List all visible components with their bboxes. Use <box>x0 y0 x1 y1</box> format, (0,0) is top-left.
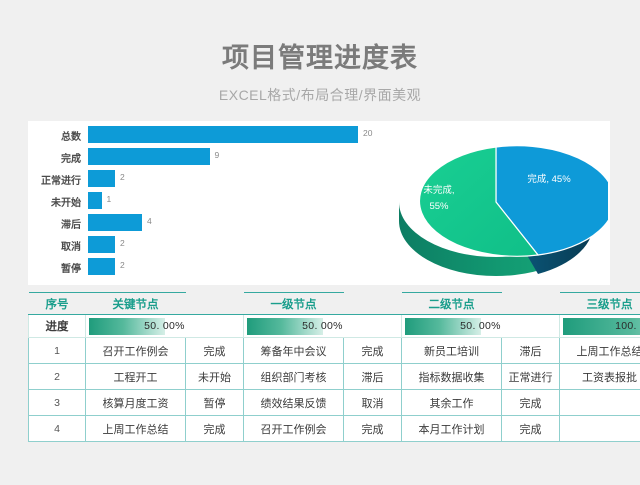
table-cell[interactable]: 指标数据收集 <box>402 364 502 390</box>
table-row: 3核算月度工资暂停绩效结果反馈取消其余工作完成 <box>29 390 640 416</box>
databar: 50. 00% <box>405 318 556 335</box>
table-cell[interactable]: 新员工培训 <box>402 338 502 364</box>
bar-category-label: 总数 <box>28 128 88 143</box>
pie-label-complete: 完成, 45% <box>527 173 571 185</box>
table-header-spacer <box>186 293 244 315</box>
table-cell[interactable] <box>560 416 640 442</box>
table-cell[interactable]: 暂停 <box>186 390 244 416</box>
bar-row: 完成9 <box>28 147 358 167</box>
table-header-spacer <box>502 293 560 315</box>
bar-track: 4 <box>88 213 358 233</box>
bar-category-label: 正常进行 <box>28 172 88 187</box>
bar-track: 20 <box>88 125 358 145</box>
bar-value-label: 1 <box>107 194 112 204</box>
bar-value-label: 9 <box>215 150 220 160</box>
table-header-cell[interactable]: 二级节点 <box>402 293 502 315</box>
table-cell[interactable]: 滞后 <box>344 364 402 390</box>
table-cell[interactable]: 本月工作计划 <box>402 416 502 442</box>
table-row-index[interactable]: 2 <box>29 364 86 390</box>
page-root: 项目管理进度表 EXCEL格式/布局合理/界面美观 总数20完成9正常进行2未开… <box>0 0 640 485</box>
bar-row: 滞后4 <box>28 213 358 233</box>
progress-databar-cell[interactable]: 50. 00% <box>86 315 244 338</box>
bar-row: 暂停2 <box>28 257 358 277</box>
bar-value-label: 2 <box>120 238 125 248</box>
table-cell[interactable]: 完成 <box>344 338 402 364</box>
pie-label-incomplete-value: 55% <box>429 201 449 212</box>
bar-fill[interactable] <box>88 148 210 165</box>
progress-databar-cell[interactable]: 50. 00% <box>402 315 560 338</box>
bar-fill[interactable] <box>88 170 115 187</box>
bar-row: 总数20 <box>28 125 358 145</box>
table-cell[interactable]: 组织部门考核 <box>244 364 344 390</box>
table-row-index[interactable]: 4 <box>29 416 86 442</box>
bar-category-label: 暂停 <box>28 260 88 275</box>
bar-fill[interactable] <box>88 126 358 143</box>
bar-row: 正常进行2 <box>28 169 358 189</box>
table-row-index[interactable]: 1 <box>29 338 86 364</box>
progress-row-label: 进度 <box>29 315 86 338</box>
table-cell[interactable]: 完成 <box>502 390 560 416</box>
bar-value-label: 2 <box>120 172 125 182</box>
bar-value-label: 2 <box>120 260 125 270</box>
table-header-spacer <box>344 293 402 315</box>
table-header-cell[interactable]: 关键节点 <box>86 293 186 315</box>
databar-value-label: 100. 00% <box>563 318 640 335</box>
databar: 100. 00% <box>563 318 640 335</box>
progress-table-area: 序号关键节点一级节点二级节点三级节点 进度50. 00%50. 00%50. 0… <box>28 292 610 442</box>
bar-row: 未开始1 <box>28 191 358 211</box>
table-row: 4上周工作总结完成召开工作例会完成本月工作计划完成 <box>29 416 640 442</box>
table-row: 2工程开工未开始组织部门考核滞后指标数据收集正常进行工资表报批完成 <box>29 364 640 390</box>
pie-chart-svg: 完成, 45% 未完成, 55% <box>383 131 608 276</box>
bar-track: 9 <box>88 147 358 167</box>
table-cell[interactable]: 上周工作总结 <box>86 416 186 442</box>
table-cell[interactable]: 正常进行 <box>502 364 560 390</box>
bar-track: 2 <box>88 235 358 255</box>
bar-value-label: 4 <box>147 216 152 226</box>
progress-databar-cell[interactable]: 50. 00% <box>244 315 402 338</box>
table-cell[interactable]: 工资表报批 <box>560 364 640 390</box>
table-cell[interactable]: 召开工作例会 <box>86 338 186 364</box>
bar-track: 2 <box>88 169 358 189</box>
bar-category-label: 滞后 <box>28 216 88 231</box>
table-header-cell[interactable]: 序号 <box>29 293 86 315</box>
bar-row: 取消2 <box>28 235 358 255</box>
databar-value-label: 50. 00% <box>405 318 556 335</box>
table-row-index[interactable]: 3 <box>29 390 86 416</box>
databar-value-label: 50. 00% <box>89 318 240 335</box>
table-cell[interactable]: 完成 <box>502 416 560 442</box>
table-header-cell[interactable]: 三级节点 <box>560 293 640 315</box>
table-cell[interactable]: 召开工作例会 <box>244 416 344 442</box>
table-cell[interactable]: 上周工作总结 <box>560 338 640 364</box>
bar-value-label: 20 <box>363 128 372 138</box>
table-row: 1召开工作例会完成筹备年中会议完成新员工培训滞后上周工作总结完成 <box>29 338 640 364</box>
page-subtitle: EXCEL格式/布局合理/界面美观 <box>0 85 640 105</box>
bar-fill[interactable] <box>88 192 102 209</box>
table-cell[interactable]: 核算月度工资 <box>86 390 186 416</box>
bar-track: 2 <box>88 257 358 277</box>
table-cell[interactable] <box>560 390 640 416</box>
bar-category-label: 完成 <box>28 150 88 165</box>
chart-panel: 总数20完成9正常进行2未开始1滞后4取消2暂停2 <box>28 121 610 285</box>
table-cell[interactable]: 工程开工 <box>86 364 186 390</box>
bar-track: 1 <box>88 191 358 211</box>
table-cell[interactable]: 未开始 <box>186 364 244 390</box>
table-header-row: 序号关键节点一级节点二级节点三级节点 <box>29 293 640 315</box>
bar-category-label: 未开始 <box>28 194 88 209</box>
pie-label-incomplete-name: 未完成, <box>423 184 454 196</box>
table-cell[interactable]: 取消 <box>344 390 402 416</box>
progress-row: 进度50. 00%50. 00%50. 00%100. 00% <box>29 315 640 338</box>
table-cell[interactable]: 筹备年中会议 <box>244 338 344 364</box>
table-cell[interactable]: 完成 <box>344 416 402 442</box>
table-cell[interactable]: 完成 <box>186 416 244 442</box>
page-title: 项目管理进度表 <box>0 36 640 75</box>
table-header-cell[interactable]: 一级节点 <box>244 293 344 315</box>
table-cell[interactable]: 绩效结果反馈 <box>244 390 344 416</box>
pie-chart: 完成, 45% 未完成, 55% <box>383 131 608 276</box>
bar-fill[interactable] <box>88 258 115 275</box>
progress-table: 序号关键节点一级节点二级节点三级节点 进度50. 00%50. 00%50. 0… <box>28 292 640 442</box>
bar-fill[interactable] <box>88 236 115 253</box>
table-cell[interactable]: 其余工作 <box>402 390 502 416</box>
bar-category-label: 取消 <box>28 238 88 253</box>
table-cell[interactable]: 完成 <box>186 338 244 364</box>
databar-value-label: 50. 00% <box>247 318 398 335</box>
databar: 50. 00% <box>247 318 398 335</box>
bar-fill[interactable] <box>88 214 142 231</box>
table-cell[interactable]: 滞后 <box>502 338 560 364</box>
bar-chart: 总数20完成9正常进行2未开始1滞后4取消2暂停2 <box>28 125 358 281</box>
databar: 50. 00% <box>89 318 240 335</box>
progress-databar-cell[interactable]: 100. 00% <box>560 315 640 338</box>
